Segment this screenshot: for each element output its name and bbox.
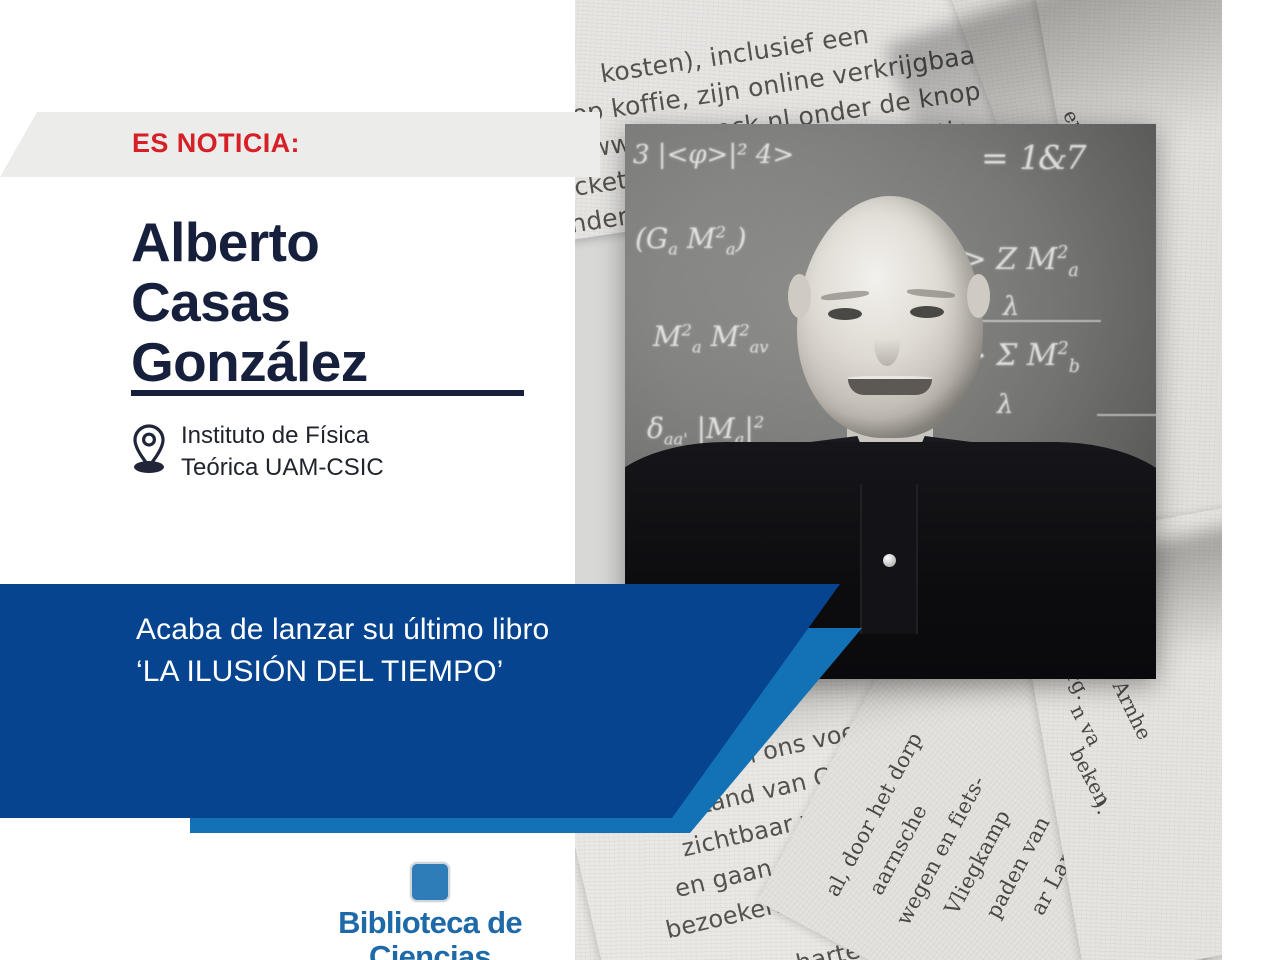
speaker-name: Alberto Casas González	[131, 211, 368, 393]
background-right-margin	[1222, 0, 1223, 960]
logo-title: Biblioteca de Ciencias	[298, 906, 562, 960]
affiliation-text: Instituto de Física Teórica UAM-CSIC	[181, 420, 384, 484]
ear-left	[788, 274, 811, 318]
eye-right	[910, 306, 944, 318]
kicker-label: ES NOTICIA:	[132, 128, 300, 159]
title-divider	[131, 390, 524, 396]
page-title: Alberto Casas González	[131, 212, 368, 392]
shirt-button	[883, 554, 896, 567]
banner-text: Acaba de lanzar su último libro ‘LA ILUS…	[136, 609, 549, 693]
location-pin-icon	[131, 422, 167, 476]
mouth	[848, 379, 932, 395]
poster-root: kosten), inclusief een kop koffie, zijn …	[0, 0, 1280, 960]
ear-right	[967, 274, 990, 318]
eye-left	[828, 308, 862, 320]
logo-square-icon	[410, 862, 450, 902]
kicker-band	[0, 112, 600, 177]
affiliation-row: Instituto de Física Teórica UAM-CSIC	[131, 420, 384, 484]
head	[797, 196, 983, 438]
biblioteca-logo[interactable]: Biblioteca de Ciencias UAM_BibliotecaUni…	[298, 862, 562, 960]
nose	[874, 320, 900, 366]
